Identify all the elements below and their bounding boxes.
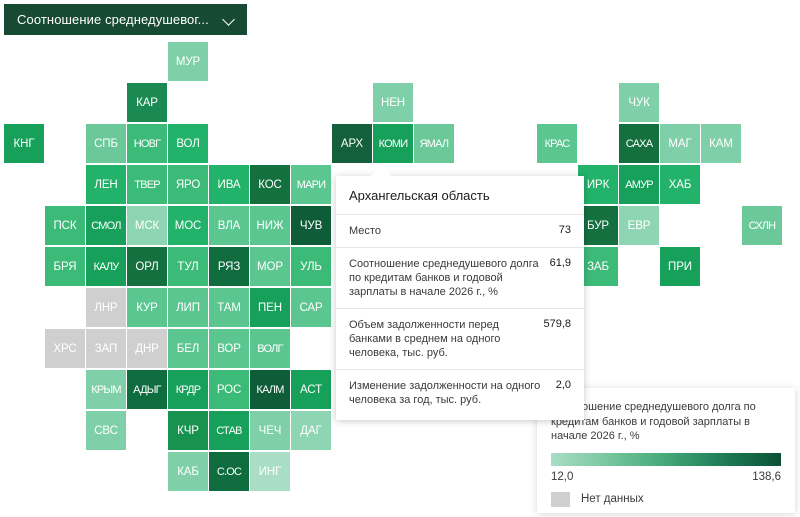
map-tile-label: КАЛМ bbox=[256, 384, 283, 396]
tooltip-metric-label: Соотношение среднедушевого долга по кред… bbox=[349, 257, 542, 299]
map-tile-label: ЧУВ bbox=[300, 220, 322, 232]
map-tile-label: БЕЛ bbox=[177, 343, 199, 355]
map-tile-label: КНГ bbox=[14, 138, 35, 150]
map-tile-ЧЕЧ[interactable]: ЧЕЧ bbox=[250, 411, 290, 450]
map-tile-САХА[interactable]: САХА bbox=[619, 124, 659, 163]
map-tile-label: МАГ bbox=[668, 138, 691, 150]
map-tile-label: КАР bbox=[136, 97, 158, 109]
map-tile-label: ДНР bbox=[135, 343, 158, 355]
region-tooltip: Архангельская область Место73Соотношение… bbox=[336, 176, 584, 420]
map-tile-label: ДАГ bbox=[300, 425, 321, 437]
map-tile-СПБ[interactable]: СПБ bbox=[86, 124, 126, 163]
map-tile-label: УЛЬ bbox=[300, 261, 322, 273]
map-tile-label: ИНГ bbox=[259, 466, 282, 478]
map-tile-label: МОС bbox=[175, 220, 202, 232]
map-tile-ПСК[interactable]: ПСК bbox=[45, 206, 85, 245]
map-tile-КРАС[interactable]: КРАС bbox=[537, 124, 577, 163]
map-tile-ЛИП[interactable]: ЛИП bbox=[168, 288, 208, 327]
map-tile-label: ТАМ bbox=[217, 302, 241, 314]
map-tile-АМУР[interactable]: АМУР bbox=[619, 165, 659, 204]
tooltip-metric-row: Место73 bbox=[336, 214, 584, 247]
map-tile-КЧР[interactable]: КЧР bbox=[168, 411, 208, 450]
legend-max-value: 138,6 bbox=[752, 471, 781, 483]
map-tile-label: КРАС bbox=[545, 138, 570, 150]
map-tile-ДАГ[interactable]: ДАГ bbox=[291, 411, 331, 450]
map-tile-АРХ[interactable]: АРХ bbox=[332, 124, 372, 163]
map-tile-label: СХЛН bbox=[749, 220, 776, 232]
legend-gradient-bar bbox=[551, 453, 781, 466]
legend-nodata-entry: Нет данных bbox=[551, 492, 781, 507]
map-tile-label: ВОЛ bbox=[176, 138, 199, 150]
map-tile-СТАВ[interactable]: СТАВ bbox=[209, 411, 249, 450]
map-tile-label: СТАВ bbox=[216, 425, 241, 437]
map-tile-КОС[interactable]: КОС bbox=[250, 165, 290, 204]
legend-title: Соотношение среднедушевого долга по кред… bbox=[551, 400, 781, 444]
map-tile-НИЖ[interactable]: НИЖ bbox=[250, 206, 290, 245]
map-tile-ЗАП[interactable]: ЗАП bbox=[86, 329, 126, 368]
legend-scale: 12,0 138,6 bbox=[551, 471, 781, 483]
map-tile-label: КЧР bbox=[177, 425, 199, 437]
map-tile-ТВЕР[interactable]: ТВЕР bbox=[127, 165, 167, 204]
map-tile-ОРЛ[interactable]: ОРЛ bbox=[127, 247, 167, 286]
map-tile-БУР[interactable]: БУР bbox=[578, 206, 618, 245]
map-tile-label: МАРИ bbox=[297, 179, 326, 191]
map-tile-label: НИЖ bbox=[257, 220, 284, 232]
tooltip-metric-value: 2,0 bbox=[556, 379, 571, 391]
map-tile-label: ЛИП bbox=[176, 302, 200, 314]
map-tile-label: ЯМАЛ bbox=[420, 138, 449, 150]
map-tile-ЧУВ[interactable]: ЧУВ bbox=[291, 206, 331, 245]
map-tile-label: СПБ bbox=[94, 138, 118, 150]
map-tile-label: ПСК bbox=[54, 220, 77, 232]
map-tile-СХЛН[interactable]: СХЛН bbox=[742, 206, 782, 245]
tooltip-metric-label: Изменение задолженности на одного челове… bbox=[349, 379, 548, 407]
map-tile-КРДР[interactable]: КРДР bbox=[168, 370, 208, 409]
map-tile-label: СМОЛ bbox=[91, 220, 120, 232]
map-tile-ЗАБ[interactable]: ЗАБ bbox=[578, 247, 618, 286]
map-tile-КАР[interactable]: КАР bbox=[127, 83, 167, 122]
map-tile-label: ПЕН bbox=[258, 302, 282, 314]
map-tile-КАЛМ[interactable]: КАЛМ bbox=[250, 370, 290, 409]
map-tile-ЕВР[interactable]: ЕВР bbox=[619, 206, 659, 245]
map-tile-label: ХАБ bbox=[669, 179, 692, 191]
map-tile-УЛЬ[interactable]: УЛЬ bbox=[291, 247, 331, 286]
map-tile-ВОЛ[interactable]: ВОЛ bbox=[168, 124, 208, 163]
map-tile-МОР[interactable]: МОР bbox=[250, 247, 290, 286]
map-tile-ЛЕН[interactable]: ЛЕН bbox=[86, 165, 126, 204]
map-tile-ХАБ[interactable]: ХАБ bbox=[660, 165, 700, 204]
map-tile-НЕН[interactable]: НЕН bbox=[373, 83, 413, 122]
map-tile-МСК[interactable]: МСК bbox=[127, 206, 167, 245]
map-tile-label: ПРИ bbox=[668, 261, 692, 273]
map-tile-БРЯ[interactable]: БРЯ bbox=[45, 247, 85, 286]
tooltip-arrow-icon bbox=[370, 167, 392, 176]
map-tile-ВОР[interactable]: ВОР bbox=[209, 329, 249, 368]
map-tile-АСТ[interactable]: АСТ bbox=[291, 370, 331, 409]
map-tile-label: АДЫГ bbox=[133, 384, 161, 396]
map-tile-label: ВЛА bbox=[218, 220, 240, 232]
map-tile-ИВА[interactable]: ИВА bbox=[209, 165, 249, 204]
metric-selector-label: Соотношение среднедушевог... bbox=[17, 12, 209, 27]
map-tile-ВОЛГ[interactable]: ВОЛГ bbox=[250, 329, 290, 368]
chevron-down-icon bbox=[223, 13, 236, 26]
map-tile-label: АСТ bbox=[300, 384, 322, 396]
map-tile-label: КОС bbox=[258, 179, 282, 191]
map-tile-label: НОВГ bbox=[134, 138, 161, 150]
map-tile-label: КРЫМ bbox=[91, 384, 120, 396]
tooltip-metric-row: Объем задолженности перед банками в сред… bbox=[336, 308, 584, 369]
map-tile-label: ЛНР bbox=[94, 302, 117, 314]
map-tile-С.ОС[interactable]: С.ОС bbox=[209, 452, 249, 491]
map-tile-label: ОРЛ bbox=[135, 261, 158, 273]
map-tile-label: ЗАП bbox=[95, 343, 117, 355]
tooltip-metric-value: 579,8 bbox=[543, 318, 571, 330]
tooltip-metric-list: Место73Соотношение среднедушевого долга … bbox=[336, 214, 584, 416]
map-tile-ТУЛ[interactable]: ТУЛ bbox=[168, 247, 208, 286]
map-tile-label: ЯРО bbox=[176, 179, 200, 191]
map-tile-ХРС[interactable]: ХРС bbox=[45, 329, 85, 368]
map-tile-ЯМАЛ[interactable]: ЯМАЛ bbox=[414, 124, 454, 163]
map-tile-label: БУР bbox=[587, 220, 609, 232]
map-tile-СВС[interactable]: СВС bbox=[86, 411, 126, 450]
map-tile-КРЫМ[interactable]: КРЫМ bbox=[86, 370, 126, 409]
map-tile-label: КОМИ bbox=[379, 138, 408, 150]
map-tile-label: ИВА bbox=[218, 179, 241, 191]
tooltip-region-title: Архангельская область bbox=[336, 176, 584, 214]
map-tile-label: ВОР bbox=[217, 343, 241, 355]
map-tile-label: С.ОС bbox=[217, 466, 241, 478]
tooltip-metric-row: Изменение задолженности на одного челове… bbox=[336, 369, 584, 416]
legend-min-value: 12,0 bbox=[551, 471, 573, 483]
map-tile-КОМИ[interactable]: КОМИ bbox=[373, 124, 413, 163]
map-tile-label: ХРС bbox=[53, 343, 76, 355]
map-tile-label: МОР bbox=[257, 261, 283, 273]
map-tile-МОС[interactable]: МОС bbox=[168, 206, 208, 245]
map-tile-ПРИ[interactable]: ПРИ bbox=[660, 247, 700, 286]
map-tile-ЯРО[interactable]: ЯРО bbox=[168, 165, 208, 204]
map-tile-ИНГ[interactable]: ИНГ bbox=[250, 452, 290, 491]
map-tile-КНГ[interactable]: КНГ bbox=[4, 124, 44, 163]
map-tile-СМОЛ[interactable]: СМОЛ bbox=[86, 206, 126, 245]
map-tile-label: МСК bbox=[135, 220, 159, 232]
map-tile-label: ТВЕР bbox=[134, 179, 160, 191]
map-tile-label: РЯЗ bbox=[218, 261, 240, 273]
map-tile-label: МУР bbox=[176, 56, 200, 68]
map-tile-label: АРХ bbox=[341, 138, 363, 150]
map-tile-КУР[interactable]: КУР bbox=[127, 288, 167, 327]
map-tile-label: ТУЛ bbox=[177, 261, 198, 273]
map-tile-label: ЕВР bbox=[628, 220, 651, 232]
map-tile-МАРИ[interactable]: МАРИ bbox=[291, 165, 331, 204]
map-tile-КАЛУ[interactable]: КАЛУ bbox=[86, 247, 126, 286]
map-tile-label: КАМ bbox=[709, 138, 733, 150]
map-tile-ПЕН[interactable]: ПЕН bbox=[250, 288, 290, 327]
tooltip-metric-label: Объем задолженности перед банками в сред… bbox=[349, 318, 535, 360]
map-tile-label: КАЛУ bbox=[94, 261, 119, 273]
map-tile-ВЛА[interactable]: ВЛА bbox=[209, 206, 249, 245]
map-tile-label: РОС bbox=[217, 384, 241, 396]
map-tile-label: ИРК bbox=[587, 179, 609, 191]
map-tile-label: БРЯ bbox=[54, 261, 77, 273]
metric-selector-dropdown[interactable]: Соотношение среднедушевог... bbox=[4, 4, 247, 35]
map-tile-КАМ[interactable]: КАМ bbox=[701, 124, 741, 163]
map-tile-МУР[interactable]: МУР bbox=[168, 42, 208, 81]
map-tile-САР[interactable]: САР bbox=[291, 288, 331, 327]
map-tile-РЯЗ[interactable]: РЯЗ bbox=[209, 247, 249, 286]
map-tile-label: ЗАБ bbox=[587, 261, 609, 273]
tooltip-metric-value: 73 bbox=[559, 224, 571, 236]
map-tile-ЛНР[interactable]: ЛНР bbox=[86, 288, 126, 327]
map-tile-label: НЕН bbox=[381, 97, 405, 109]
map-tile-РОС[interactable]: РОС bbox=[209, 370, 249, 409]
map-tile-label: ЛЕН bbox=[94, 179, 117, 191]
map-tile-label: САР bbox=[299, 302, 322, 314]
map-tile-ДНР[interactable]: ДНР bbox=[127, 329, 167, 368]
map-tile-НОВГ[interactable]: НОВГ bbox=[127, 124, 167, 163]
legend-nodata-swatch bbox=[551, 492, 570, 507]
map-tile-label: КАБ bbox=[177, 466, 199, 478]
map-tile-ТАМ[interactable]: ТАМ bbox=[209, 288, 249, 327]
map-tile-БЕЛ[interactable]: БЕЛ bbox=[168, 329, 208, 368]
map-tile-label: ЧЕЧ bbox=[259, 425, 282, 437]
map-tile-ЧУК[interactable]: ЧУК bbox=[619, 83, 659, 122]
map-tile-label: САХА bbox=[626, 138, 653, 150]
tooltip-metric-row: Соотношение среднедушевого долга по кред… bbox=[336, 247, 584, 308]
map-tile-label: АМУР bbox=[625, 179, 653, 191]
map-tile-АДЫГ[interactable]: АДЫГ bbox=[127, 370, 167, 409]
map-tile-ИРК[interactable]: ИРК bbox=[578, 165, 618, 204]
map-tile-label: СВС bbox=[94, 425, 118, 437]
map-tile-label: КУР bbox=[136, 302, 158, 314]
map-tile-label: ВОЛГ bbox=[257, 343, 282, 355]
legend-nodata-label: Нет данных bbox=[581, 493, 644, 505]
map-tile-label: ЧУК bbox=[628, 97, 649, 109]
map-tile-label: КРДР bbox=[176, 384, 201, 396]
map-tile-МАГ[interactable]: МАГ bbox=[660, 124, 700, 163]
map-tile-КАБ[interactable]: КАБ bbox=[168, 452, 208, 491]
tooltip-metric-value: 61,9 bbox=[550, 257, 571, 269]
tooltip-metric-label: Место bbox=[349, 224, 551, 238]
